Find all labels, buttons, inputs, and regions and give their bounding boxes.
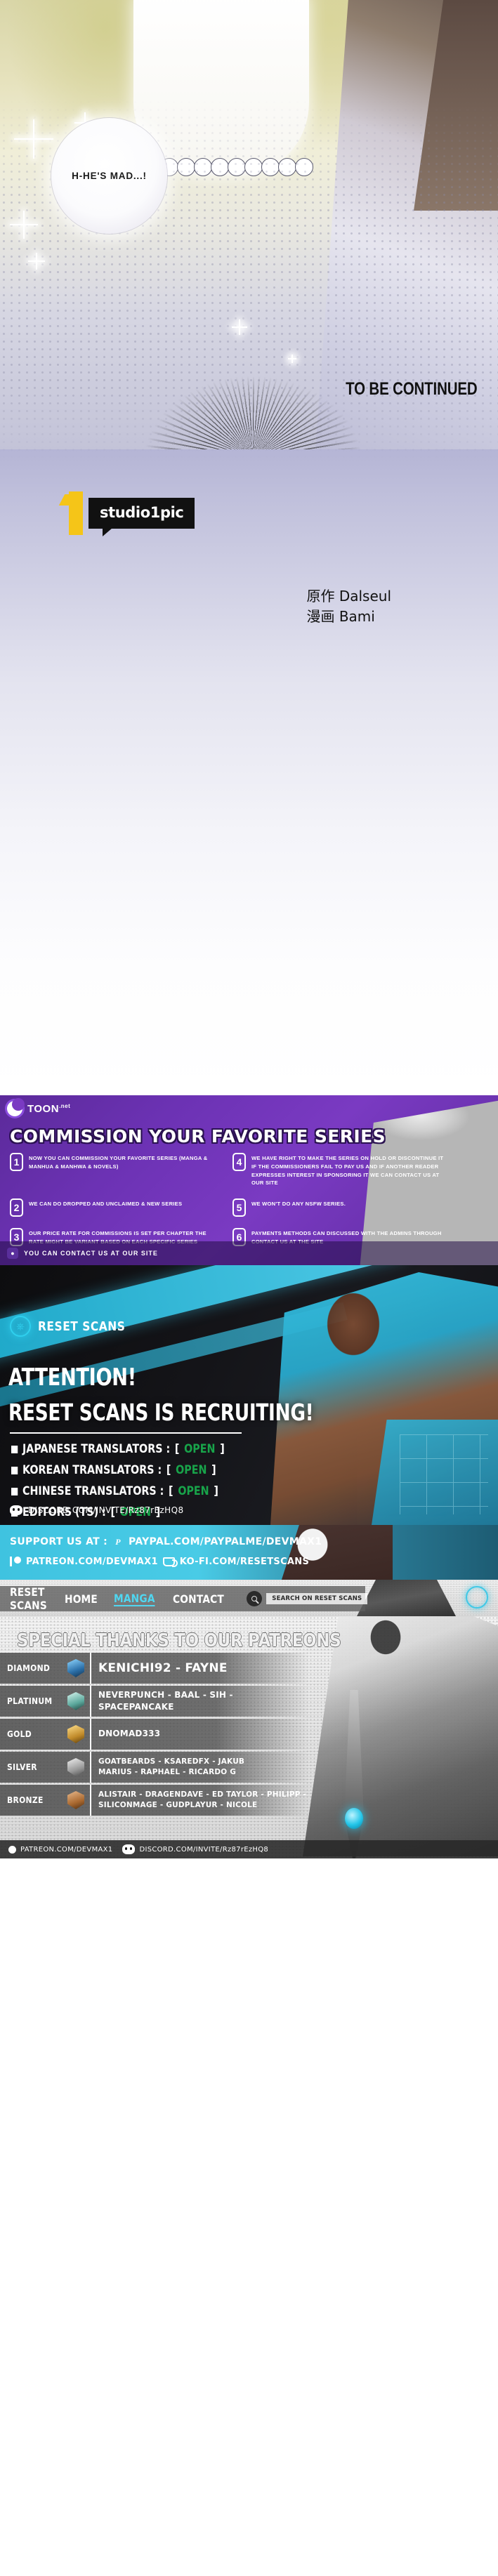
discord-icon bbox=[122, 1844, 135, 1854]
patron-tier-members: ALISTAIR - DRAGENDAVE - ED TAYLOR - PHIL… bbox=[98, 1790, 306, 1811]
patron-tier-row: BRONZE ALISTAIR - DRAGENDAVE - ED TAYLOR… bbox=[0, 1785, 309, 1816]
tier-separator bbox=[90, 1752, 91, 1783]
patreon-icon bbox=[8, 1846, 16, 1854]
recruit-role-label: JAPANESE TRANSLATORS : bbox=[22, 1442, 170, 1456]
crescent-moon-icon bbox=[7, 1101, 22, 1116]
bracket-close: ] bbox=[214, 1484, 218, 1498]
nav-item-contact[interactable]: CONTACT bbox=[173, 1592, 224, 1606]
patron-name-line: SILICONMAGE - GUDPLAYUR - NICOLE bbox=[98, 1800, 306, 1811]
tier-separator bbox=[90, 1719, 91, 1750]
patron-tier-row: SILVER GOATBEARDS - KSAREDFX - JAKUB MAR… bbox=[0, 1752, 309, 1783]
studio-logo-name: studio1pic bbox=[100, 504, 183, 521]
bullet-square-icon bbox=[11, 1446, 18, 1453]
patreon-thanks-banner: SPECIAL THANKS TO OUR PATREONS DIAMOND K… bbox=[0, 1616, 498, 1858]
patreon-url[interactable]: PATREON.COM/DEVMAX1 bbox=[26, 1557, 158, 1567]
artwork-focus-lines bbox=[126, 274, 379, 449]
user-circle-icon: ● bbox=[7, 1248, 18, 1259]
credit-author: 原作 Dalseul bbox=[306, 586, 391, 607]
commission-item-number: 4 bbox=[232, 1153, 246, 1171]
commission-title: COMMISSION YOUR FAVORITE SERIES bbox=[10, 1126, 386, 1147]
commission-item-text: WE CAN DO DROPPED AND UNCLAIMED & NEW SE… bbox=[29, 1198, 182, 1208]
contact-strip-text: YOU CAN CONTACT US AT OUR SITE bbox=[24, 1250, 158, 1257]
bracket-open: [ bbox=[175, 1442, 180, 1456]
nav-item-home[interactable]: HOME bbox=[65, 1592, 98, 1606]
patron-tier-name: GOLD bbox=[7, 1729, 61, 1739]
footer-discord-url: DISCORD.COM/INVITE/Rz87rEzHQ8 bbox=[139, 1846, 268, 1854]
footer-patreon-link[interactable]: PATREON.COM/DEVMAX1 bbox=[8, 1846, 112, 1854]
patron-tier-list: DIAMOND KENICHI92 - FAYNE PLATINUM NEVER… bbox=[0, 1653, 309, 1818]
studio-logo-numeral-icon bbox=[62, 491, 87, 535]
speech-bubble: H-HE'S MAD...! bbox=[51, 118, 167, 234]
credit-artist: 漫画 Bami bbox=[306, 607, 391, 627]
tier-separator bbox=[90, 1686, 91, 1717]
bracket-close: ] bbox=[211, 1463, 216, 1477]
speech-bubble-text: H-HE'S MAD...! bbox=[72, 171, 147, 181]
recruit-role-item: KOREAN TRANSLATORS : [ OPEN ] bbox=[11, 1463, 225, 1477]
reset-scans-brand[interactable]: ⎈ RESET SCANS bbox=[10, 1316, 140, 1337]
discord-url: DISCORD.COM/INVITE/Rz87rEzHQ8 bbox=[28, 1505, 183, 1515]
logo-orb-icon[interactable] bbox=[466, 1586, 488, 1609]
discord-icon bbox=[10, 1505, 22, 1515]
commission-item: 5 WE WON'T DO ANY NSFW SERIES. bbox=[232, 1198, 445, 1217]
support-line-secondary: PATREON.COM/DEVMAX1 KO-FI.COM/RESETSCANS bbox=[10, 1556, 309, 1567]
paypal-icon: P bbox=[112, 1536, 124, 1547]
discord-link[interactable]: DISCORD.COM/INVITE/Rz87rEzHQ8 bbox=[10, 1505, 183, 1515]
banner-screen-art bbox=[372, 1420, 498, 1525]
comic-reader-page: H-HE'S MAD...! TO BE CONTINUED studio1pi… bbox=[0, 0, 498, 1858]
commission-items: 1 NOW YOU CAN COMMISSION YOUR FAVORITE S… bbox=[10, 1153, 445, 1246]
commission-item-text: WE WON'T DO ANY NSFW SERIES. bbox=[251, 1198, 346, 1208]
toon-brand[interactable]: TOON.net bbox=[7, 1101, 70, 1116]
commission-item-text: NOW YOU CAN COMMISSION YOUR FAVORITE SER… bbox=[29, 1153, 223, 1171]
patron-tier-name: PLATINUM bbox=[7, 1696, 61, 1706]
support-line-primary: SUPPORT US AT : P PAYPAL.COM/PAYPALME/DE… bbox=[10, 1536, 322, 1547]
footer-discord-link[interactable]: DISCORD.COM/INVITE/Rz87rEzHQ8 bbox=[122, 1844, 268, 1854]
power-icon: ⎈ bbox=[10, 1316, 31, 1337]
patron-tier-row: PLATINUM NEVERPUNCH - BAAL - SIH - SPACE… bbox=[0, 1686, 309, 1717]
patron-tier-members: DNOMAD333 bbox=[98, 1728, 160, 1740]
comic-credits: 原作 Dalseul 漫画 Bami bbox=[306, 586, 391, 627]
patron-tier-row: DIAMOND KENICHI92 - FAYNE bbox=[0, 1653, 309, 1684]
search-input[interactable]: SEARCH ON RESET SCANS bbox=[266, 1593, 367, 1604]
patreon-footer: PATREON.COM/DEVMAX1 DISCORD.COM/INVITE/R… bbox=[0, 1840, 498, 1858]
patron-name-line: NEVERPUNCH - BAAL - SIH - SPACEPANCAKE bbox=[98, 1689, 309, 1714]
support-character-art bbox=[280, 1525, 393, 1580]
commission-item-text: WE HAVE RIGHT TO MAKE THE SERIES ON HOLD… bbox=[251, 1153, 445, 1187]
bracket-open: [ bbox=[169, 1484, 173, 1498]
recruiting-banner[interactable]: ⎈ RESET SCANS ATTENTION! RESET SCANS IS … bbox=[0, 1265, 498, 1525]
gold-badge-icon bbox=[67, 1725, 84, 1743]
recruit-headline: ATTENTION! bbox=[8, 1363, 136, 1392]
patron-name-line: ALISTAIR - DRAGENDAVE - ED TAYLOR - PHIL… bbox=[98, 1790, 306, 1800]
toon-brand-tld: .net bbox=[59, 1103, 70, 1109]
kofi-url[interactable]: KO-FI.COM/RESETSCANS bbox=[180, 1557, 309, 1567]
patron-tier-name: DIAMOND bbox=[7, 1663, 61, 1673]
studio-logo: studio1pic bbox=[62, 491, 195, 535]
recruit-role-item: JAPANESE TRANSLATORS : [ OPEN ] bbox=[11, 1442, 225, 1456]
commission-item-number: 5 bbox=[232, 1198, 246, 1217]
tier-separator bbox=[90, 1785, 91, 1816]
patron-tier-row: GOLD DNOMAD333 bbox=[0, 1719, 309, 1750]
patron-name-line: GOATBEARDS - KSAREDFX - JAKUB bbox=[98, 1757, 244, 1767]
site-navigation-wrapper: RESET SCANS HOME MANGA CONTACT SEARCH ON… bbox=[0, 1580, 498, 1616]
recruit-role-status: OPEN bbox=[184, 1442, 215, 1456]
patron-tier-members: GOATBEARDS - KSAREDFX - JAKUB MARIUS - R… bbox=[98, 1757, 244, 1778]
commission-banner[interactable]: TOON.net COMMISSION YOUR FAVORITE SERIES… bbox=[0, 1095, 498, 1265]
diamond-badge-icon bbox=[67, 1659, 84, 1677]
patron-tier-members: KENICHI92 - FAYNE bbox=[98, 1660, 228, 1677]
commission-item: 4 WE HAVE RIGHT TO MAKE THE SERIES ON HO… bbox=[232, 1153, 445, 1187]
nav-item-reset-scans[interactable]: RESET SCANS bbox=[10, 1585, 47, 1612]
patron-name-line: MARIUS - RAPHAEL - RICARDO G bbox=[98, 1767, 244, 1778]
patreon-gem-art bbox=[345, 1808, 363, 1829]
to-be-continued-text: TO BE CONTINUED bbox=[346, 379, 477, 399]
patron-name-line: DNOMAD333 bbox=[98, 1728, 160, 1740]
patreon-character-art bbox=[280, 1616, 498, 1856]
support-label: SUPPORT US AT : bbox=[10, 1536, 107, 1547]
support-strip[interactable]: SUPPORT US AT : P PAYPAL.COM/PAYPALME/DE… bbox=[0, 1525, 498, 1580]
contact-strip[interactable]: ● YOU CAN CONTACT US AT OUR SITE bbox=[0, 1241, 498, 1265]
nav-search[interactable]: SEARCH ON RESET SCANS bbox=[247, 1591, 367, 1606]
commission-item-number: 2 bbox=[10, 1198, 23, 1217]
bracket-open: [ bbox=[166, 1463, 171, 1477]
reset-scans-brand-name: RESET SCANS bbox=[38, 1319, 125, 1334]
patreon-icon bbox=[10, 1556, 21, 1567]
recruit-subheadline: RESET SCANS IS RECRUITING! bbox=[8, 1399, 313, 1426]
patron-tier-name: SILVER bbox=[7, 1762, 61, 1772]
patron-tier-members: NEVERPUNCH - BAAL - SIH - SPACEPANCAKE bbox=[98, 1689, 309, 1714]
toon-brand-name: TOON.net bbox=[27, 1103, 70, 1115]
site-navigation: RESET SCANS HOME MANGA CONTACT SEARCH ON… bbox=[0, 1586, 365, 1611]
kofi-icon bbox=[163, 1557, 175, 1566]
commission-item: 2 WE CAN DO DROPPED AND UNCLAIMED & NEW … bbox=[10, 1198, 223, 1217]
commission-item-number: 1 bbox=[10, 1153, 23, 1171]
studio-logo-plate: studio1pic bbox=[89, 498, 195, 529]
bullet-square-icon bbox=[11, 1488, 18, 1495]
patreon-thanks-title: SPECIAL THANKS TO OUR PATREONS bbox=[17, 1630, 341, 1651]
tier-separator bbox=[90, 1653, 91, 1684]
bullet-square-icon bbox=[11, 1467, 18, 1474]
footer-patreon-url: PATREON.COM/DEVMAX1 bbox=[20, 1846, 112, 1854]
recruit-role-status: OPEN bbox=[176, 1463, 207, 1477]
nav-item-manga[interactable]: MANGA bbox=[114, 1592, 155, 1606]
recruit-divider bbox=[10, 1432, 242, 1434]
search-icon[interactable] bbox=[247, 1591, 262, 1606]
bracket-close: ] bbox=[220, 1442, 225, 1456]
recruit-role-label: KOREAN TRANSLATORS : bbox=[22, 1463, 162, 1477]
recruit-role-item: CHINESE TRANSLATORS : [ OPEN ] bbox=[11, 1484, 225, 1498]
recruit-role-label: CHINESE TRANSLATORS : bbox=[22, 1484, 164, 1498]
commission-item: 1 NOW YOU CAN COMMISSION YOUR FAVORITE S… bbox=[10, 1153, 223, 1187]
toon-brand-label: TOON bbox=[27, 1103, 59, 1115]
patron-name-line: KENICHI92 - FAYNE bbox=[98, 1660, 228, 1677]
paypal-url[interactable]: PAYPAL.COM/PAYPALME/DEVMAX1 bbox=[129, 1536, 322, 1547]
comic-art-panel: H-HE'S MAD...! TO BE CONTINUED studio1pi… bbox=[0, 0, 498, 1095]
patron-tier-name: BRONZE bbox=[7, 1795, 61, 1805]
silver-badge-icon bbox=[67, 1758, 84, 1776]
platinum-badge-icon bbox=[67, 1692, 84, 1710]
bronze-badge-icon bbox=[67, 1791, 84, 1809]
recruit-role-status: OPEN bbox=[178, 1484, 209, 1498]
